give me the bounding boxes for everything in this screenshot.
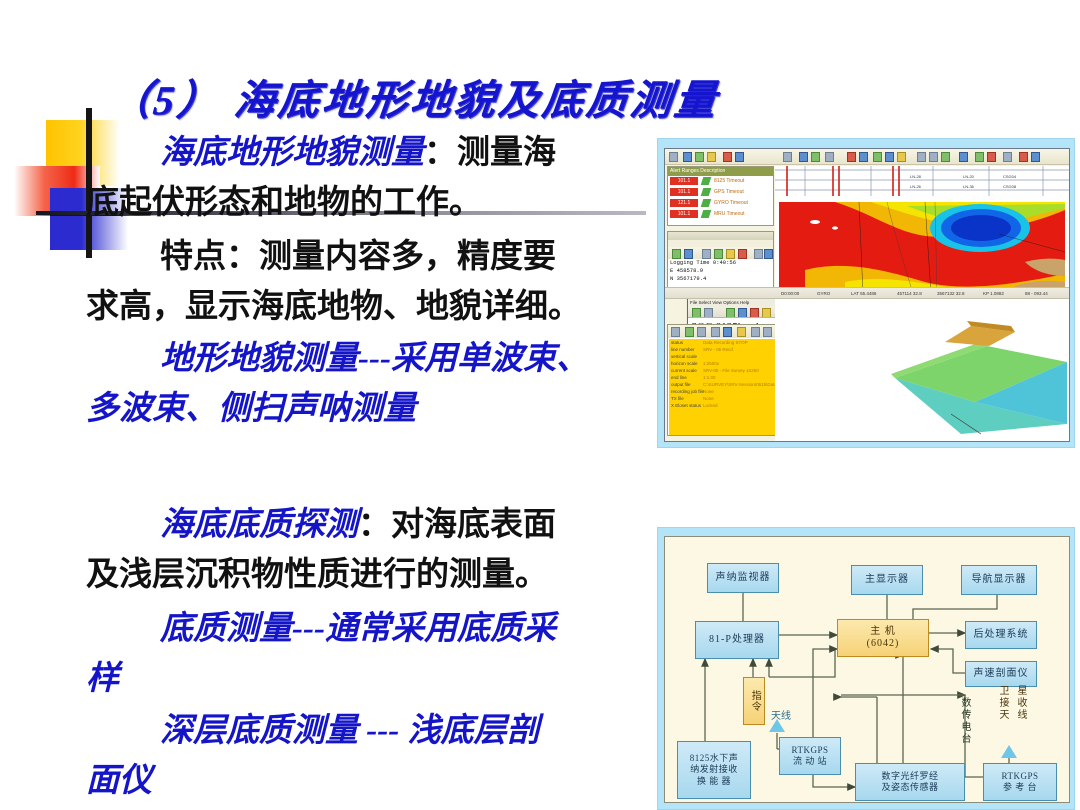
alert-value: 101.1 — [670, 210, 698, 218]
config-key: current scale — [671, 367, 697, 374]
config-key: horizon scale — [671, 360, 698, 367]
text-block-2: 特点：测量内容多，精度要求高，显示海底地物、地貌详细。 — [0, 232, 660, 332]
save-icon[interactable] — [707, 152, 716, 162]
record-icon[interactable] — [695, 152, 704, 162]
bathymetry-chart: LN-28 LN-26 LN-20 LN-36 CSG04 CSG08 — [775, 166, 1069, 441]
stop-icon[interactable] — [684, 249, 693, 259]
config-key: end line — [671, 374, 687, 381]
flag-icon[interactable] — [1019, 152, 1028, 162]
text-block-6: 深层底质测量 --- 浅底层剖面仪 — [0, 706, 660, 806]
next-icon[interactable] — [714, 249, 723, 259]
text-line-6-1: 深层底质测量 --- 浅底层剖 — [0, 706, 660, 756]
window-icon[interactable] — [737, 327, 746, 337]
svg-text:LN-20: LN-20 — [963, 174, 975, 179]
text-run-4-1-1: 海底底质探测 — [160, 507, 358, 543]
config-value: SRV - 05 Recd — [703, 346, 733, 353]
svg-text:LN-36: LN-36 — [963, 184, 975, 189]
alert-panel: Alert Ranges Description 101.18125 Timeo… — [667, 166, 774, 226]
copy-icon[interactable] — [738, 249, 747, 259]
node-81p-processor: 81-P处理器 — [695, 621, 779, 659]
info-icon[interactable] — [735, 152, 744, 162]
alert-value: 121.1 — [670, 199, 698, 207]
svg-text:CSG08: CSG08 — [1003, 184, 1017, 189]
text-run-5-1-1: 底质测量---通常采用底质采 — [160, 611, 556, 647]
alert-status-icon — [701, 210, 712, 218]
text-line-5-1: 底质测量---通常采用底质采 — [0, 604, 660, 654]
node-post-processing: 后处理系统 — [965, 621, 1037, 649]
node-nav-display: 导航显示器 — [961, 565, 1037, 595]
logging-line: Logging Time 0:40:56 — [668, 259, 773, 267]
config-value: None — [703, 388, 714, 395]
logging-values: Logging Time 0:40:56E 458578.9N 3567179.… — [668, 259, 773, 283]
status-item-6: 88 - 093.44 — [1025, 288, 1048, 300]
config-value: 1:1.00 — [703, 374, 716, 381]
main-toolbar[interactable] — [665, 149, 1069, 165]
antenna-triangle-icon — [769, 719, 785, 732]
arrow-icon[interactable] — [671, 327, 680, 337]
text-block-1: 海底地形地貌测量：测量海底起伏形态和地物的工作。 — [0, 128, 660, 228]
folder-icon[interactable] — [726, 249, 735, 259]
alert-row[interactable]: 121.1GYRO Timeout — [668, 198, 773, 209]
system-block-diagram: 声纳监视器 主显示器 导航显示器 81-P处理器 主 机 (6042) 后处理系… — [657, 527, 1075, 810]
config-key: recording job file — [671, 388, 704, 395]
node-fog-compass: 数字光纤罗经 及姿态传感器 — [855, 763, 965, 801]
page-title: （5） 海底地形地貌及底质测量 — [107, 66, 813, 126]
logging-panel-toolbar[interactable] — [668, 247, 773, 259]
prev-icon[interactable] — [702, 249, 711, 259]
chart-statusbar: D0:00:00 GYRO LAT 55.4486 457114 32.8 35… — [665, 287, 1069, 299]
text-line-5-2: 样 — [0, 654, 660, 704]
alert-rows: 101.18125 Timeout101.1GPS Timeout121.1GY… — [668, 176, 773, 220]
step-icon[interactable] — [723, 327, 732, 337]
config-key: TX file — [671, 395, 684, 402]
play-icon[interactable] — [672, 249, 681, 259]
grid-icon[interactable] — [859, 152, 868, 162]
help-icon[interactable] — [723, 152, 732, 162]
chart-vector: LN-28 LN-26 LN-20 LN-36 CSG04 CSG08 — [775, 166, 1069, 441]
print-icon[interactable] — [811, 152, 820, 162]
map-icon[interactable] — [799, 152, 808, 162]
text-run-6-2-1: 面仪 — [86, 763, 152, 799]
svg-text:LN-26: LN-26 — [910, 184, 922, 189]
plus-icon[interactable] — [669, 152, 678, 162]
node-host: 主 机 (6042) — [837, 619, 929, 657]
text-run-2-1-1: 特点：测量内容多，精度要 — [160, 239, 556, 275]
text-block-3: 地形地貌测量---采用单波束、多波束、侧扫声呐测量 — [0, 334, 660, 434]
open-icon[interactable] — [683, 152, 692, 162]
text-line-6-2: 面仪 — [0, 756, 660, 806]
alert-text: MRU Timeout — [714, 210, 745, 218]
config-value: None — [703, 395, 714, 402]
node-main-display: 主显示器 — [851, 565, 923, 595]
alert-header: Alert Ranges Description — [668, 167, 773, 176]
layer-icon[interactable] — [959, 152, 968, 162]
config-icon[interactable] — [764, 249, 773, 259]
text-line-3-2: 多波束、侧扫声呐测量 — [0, 384, 660, 434]
config-value: Locked — [703, 402, 718, 409]
text-run-4-2-1: 及浅层沉积物性质进行的测量。 — [86, 557, 548, 593]
config-key: X Eloset status — [671, 402, 701, 409]
slide: （5） 海底地形地貌及底质测量 海底地形地貌测量：测量海底起伏形态和地物的工作。… — [0, 0, 1080, 810]
text-line-4-2: 及浅层沉积物性质进行的测量。 — [0, 550, 660, 600]
text-line-2-1: 特点：测量内容多，精度要 — [0, 232, 660, 282]
pan-icon[interactable] — [917, 152, 926, 162]
square-stop-icon[interactable] — [697, 327, 706, 337]
node-sonar-monitor: 声纳监视器 — [707, 563, 779, 593]
text-run-1-2-1: 底起伏形态和地物的工作。 — [86, 185, 482, 221]
alert-status-icon — [701, 188, 712, 196]
status-item-1: GYRO — [817, 288, 830, 300]
status-item-0: D0:00:00 — [781, 288, 799, 300]
text-run-3-1-1: 地形地貌测量---采用单波束、 — [160, 341, 589, 377]
node-transducer-8125: 8125水下声 纳发射接收 换 能 器 — [677, 741, 751, 799]
status-item-3: 457114 32.8 — [897, 288, 922, 300]
target-icon[interactable] — [873, 152, 882, 162]
select-icon[interactable] — [1003, 152, 1012, 162]
logging-line: N 3567179.4 — [668, 275, 773, 283]
text-run-4-1-2: ：对海底表面 — [358, 507, 556, 543]
satellite-antenna-triangle-icon — [1001, 745, 1017, 758]
node-rtkgps-base: RTKGPS 参 考 台 — [983, 763, 1057, 801]
config-value: C:\SURVEY\SRV-Session\0515\Data1 — [703, 381, 779, 388]
alert-status-icon — [701, 199, 712, 207]
zoom-icon[interactable] — [885, 152, 894, 162]
logging-panel: Logging Time 0:40:56E 458578.9N 3567179.… — [667, 231, 774, 293]
text-run-1-1-1: 海底地形地貌测量 — [160, 135, 424, 171]
text-line-1-2: 底起伏形态和地物的工作。 — [0, 178, 660, 228]
text-run-1-1-2: ：测量海 — [424, 135, 556, 171]
zoom-in-icon[interactable] — [975, 152, 984, 162]
config-key: output file — [671, 381, 691, 388]
start-icon[interactable] — [685, 327, 694, 337]
diagram-canvas: 声纳监视器 主显示器 导航显示器 81-P处理器 主 机 (6042) 后处理系… — [664, 536, 1070, 803]
alert-value: 101.1 — [670, 177, 698, 185]
node-rtkgps-rover: RTKGPS 流 动 站 — [779, 737, 841, 775]
cloud-icon[interactable] — [825, 152, 834, 162]
zoom-out-icon[interactable] — [987, 152, 996, 162]
pause-icon[interactable] — [711, 327, 720, 337]
alert-text: GYRO Timeout — [714, 199, 748, 207]
node-command: 指令 — [743, 677, 765, 725]
text-line-2-2: 求高，显示海底地物、地貌详细。 — [0, 282, 660, 332]
status-item-2: LAT 55.4486 — [851, 288, 876, 300]
text-block-5: 底质测量---通常采用底质采样 — [0, 604, 660, 704]
software-window: Alert Ranges Description 101.18125 Timeo… — [664, 148, 1070, 442]
svg-text:LN-28: LN-28 — [910, 174, 922, 179]
config-key: vertical scale — [671, 353, 697, 360]
alert-row[interactable]: 101.1GPS Timeout — [668, 187, 773, 198]
svg-text:CSG04: CSG04 — [1003, 174, 1017, 179]
text-run-6-1-1: 深层底质测量 --- 浅底层剖 — [160, 713, 539, 749]
text-run-3-2-1: 多波束、侧扫声呐测量 — [86, 391, 416, 427]
alert-status-icon — [701, 177, 712, 185]
alert-row[interactable]: 101.1MRU Timeout — [668, 209, 773, 220]
config-key: line number — [671, 346, 695, 353]
status-item-5: KP 1.0882 — [983, 288, 1004, 300]
settings-icon[interactable] — [1031, 152, 1040, 162]
alert-value: 101.1 — [670, 188, 698, 196]
text-block-4: 海底底质探测：对海底表面及浅层沉积物性质进行的测量。 — [0, 500, 660, 600]
text-run-2-2-1: 求高，显示海底地物、地貌详细。 — [86, 289, 581, 325]
hint-icon[interactable] — [754, 249, 763, 259]
config-value: Data Recording STOP — [703, 339, 748, 346]
measure-icon[interactable] — [897, 152, 906, 162]
text-run-5-2-1: 样 — [86, 661, 119, 697]
node-icon[interactable] — [941, 152, 950, 162]
chart-icon[interactable] — [847, 152, 856, 162]
pencil-icon[interactable] — [763, 327, 772, 337]
logging-line: E 458578.9 — [668, 267, 773, 275]
sat-antenna-col1: 卫接天 — [995, 685, 1010, 721]
text-line-3-1: 地形地貌测量---采用单波束、 — [0, 334, 660, 384]
refresh-icon[interactable] — [783, 152, 792, 162]
line-icon[interactable] — [929, 152, 938, 162]
node-sv-profiler: 声速剖面仪 — [965, 661, 1037, 687]
circle-icon[interactable] — [751, 327, 760, 337]
alert-text: 8125 Timeout — [714, 177, 744, 185]
text-line-1-1: 海底地形地貌测量：测量海 — [0, 128, 660, 178]
text-line-4-1: 海底底质探测：对海底表面 — [0, 500, 660, 550]
alert-text: GPS Timeout — [714, 188, 744, 196]
radio-label: 数传电台 — [957, 697, 972, 745]
logging-panel-titlebar[interactable] — [668, 232, 773, 240]
logging-panel-menubar[interactable] — [668, 240, 773, 247]
sat-antenna-col2: 星收线 — [1013, 685, 1028, 721]
sonar-software-screenshot: Alert Ranges Description 101.18125 Timeo… — [657, 138, 1075, 448]
status-item-4: 3567132 32.8 — [937, 288, 965, 300]
alert-row[interactable]: 101.18125 Timeout — [668, 176, 773, 187]
config-value: SRV-05 - File Survey 10250 — [703, 367, 759, 374]
config-key: status — [671, 339, 683, 346]
config-value: 1:2500x — [703, 360, 719, 367]
